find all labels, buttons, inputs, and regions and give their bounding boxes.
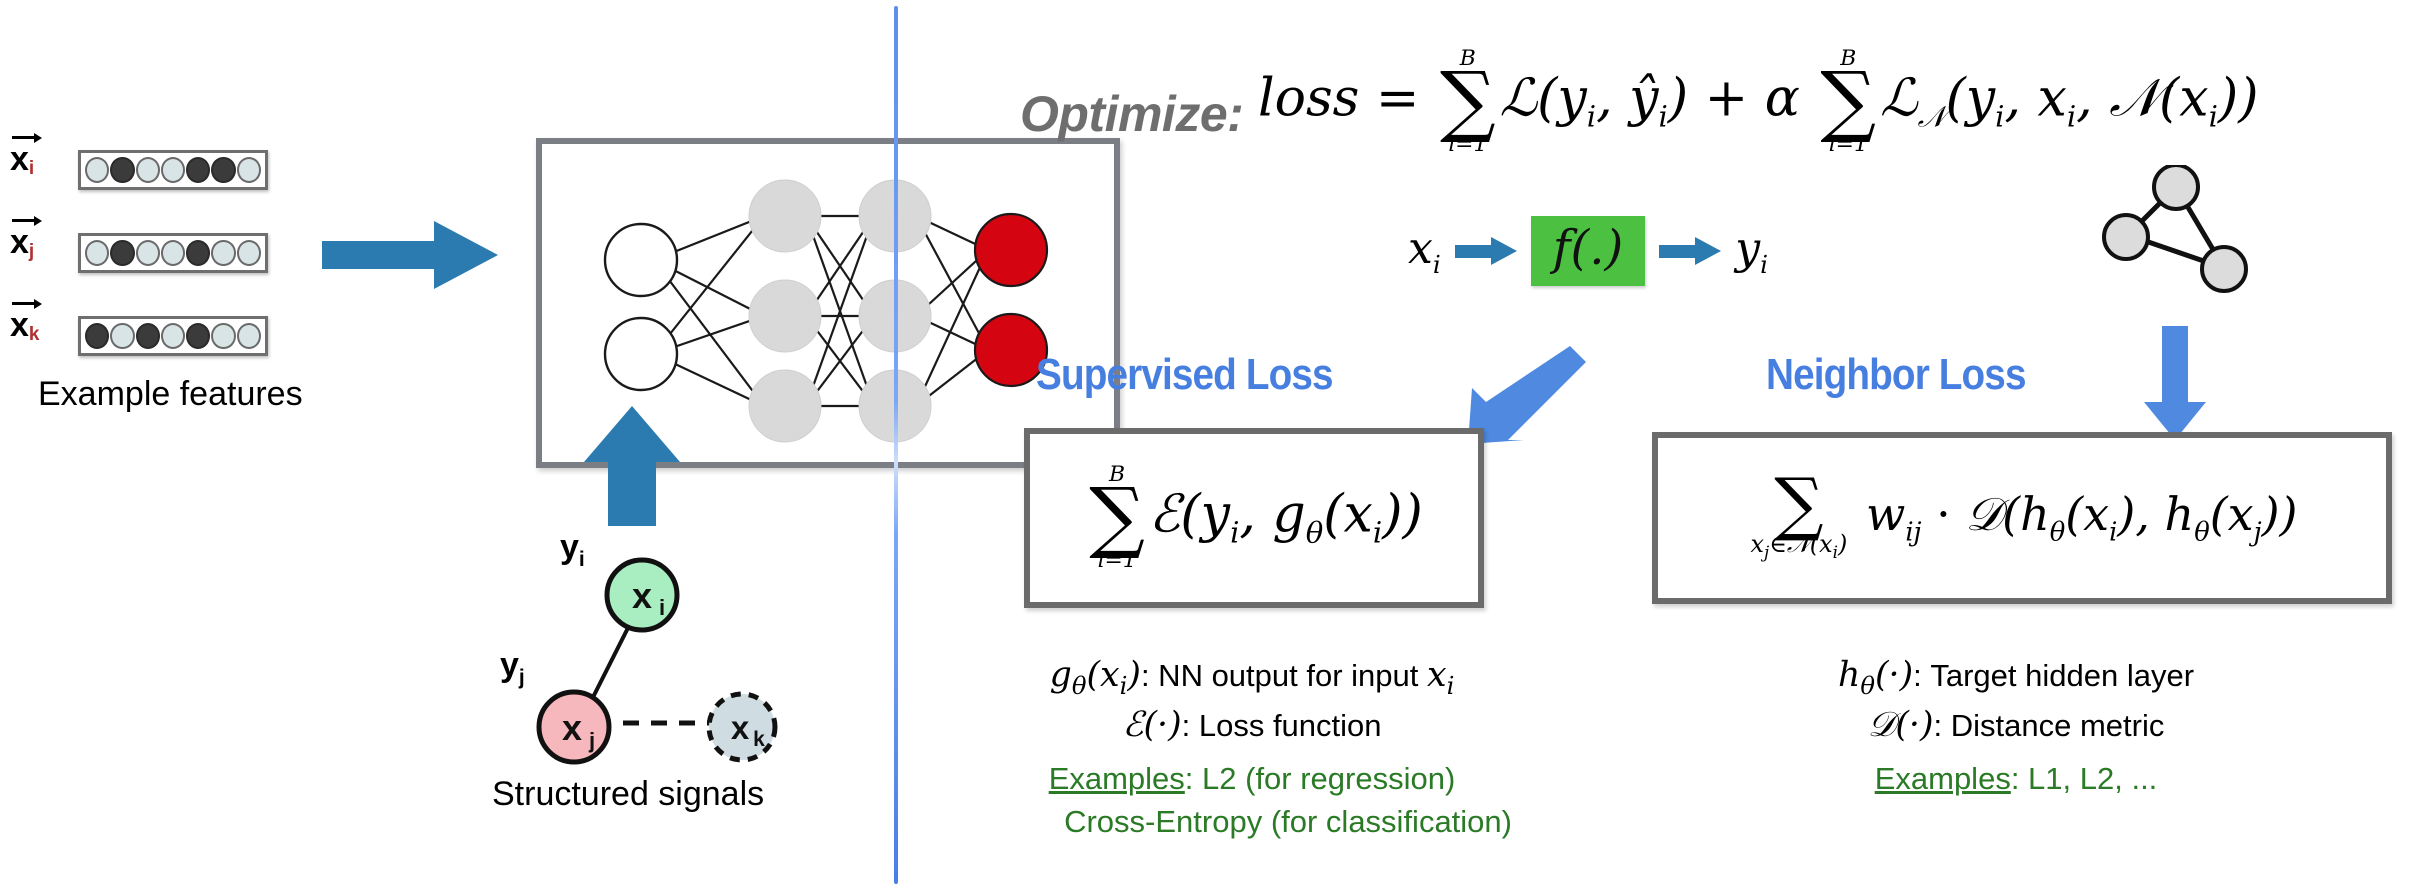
vector-symbol: x <box>10 306 29 344</box>
svg-text:i: i <box>659 595 665 620</box>
supervised-legend-line-1: gθ(xi): NN output for input xi <box>992 652 1512 702</box>
pipeline-arrow-out-icon <box>1659 240 1721 262</box>
feature-cell <box>136 240 160 266</box>
term2-sub2: i <box>2067 100 2076 134</box>
neighbor-loss-header: Neighbor Loss <box>1766 350 2026 400</box>
neighbor-loss-box: ∑ xj∈𝒩(xi) wij · 𝒟(hθ(xi), hθ(xj)) <box>1652 432 2392 604</box>
structured-signals-label: Structured signals <box>492 775 764 814</box>
feature-cell <box>211 323 235 349</box>
sup-body-sub1: i <box>1230 516 1239 550</box>
sum1-sigma-icon: ∑ <box>1440 70 1496 134</box>
nbr-sub2: j <box>2254 517 2262 547</box>
summation-2: B ∑ i=1 <box>1820 48 1876 156</box>
neighbor-examples-value: : L1, L2, ... <box>2011 761 2157 796</box>
neighbor-legend-line-1-text: : Target hidden layer <box>1913 658 2194 693</box>
vector-subscript: k <box>29 324 40 345</box>
feature-cell <box>237 157 261 183</box>
supervised-examples-label: Examples <box>1049 761 1185 796</box>
svg-text:j: j <box>588 728 595 753</box>
sup-body-end: )) <box>1382 484 1423 544</box>
supervised-sum: B ∑ i=1 <box>1089 464 1145 572</box>
neighbor-term-head-sub: 𝒩 <box>1918 100 1946 134</box>
sup-sum-sigma-icon: ∑ <box>1089 486 1145 550</box>
sup-body-mid: , g <box>1239 484 1305 544</box>
graph-label-yj: yj <box>500 646 525 690</box>
feature-vector-row-i <box>78 150 268 190</box>
feature-cell <box>186 157 210 183</box>
supervised-legend-line-1-text: : NN output for input <box>1141 658 1427 693</box>
example-features-label: Example features <box>38 375 303 414</box>
vector-label-k: xk <box>10 298 40 342</box>
h-theta-symbol: hθ(·) <box>1838 655 1913 695</box>
g-theta-symbol: gθ(xi) <box>1050 655 1141 695</box>
term2-end: )) <box>2218 68 2259 128</box>
feature-cell <box>161 157 185 183</box>
term1-sub2: i <box>1659 100 1668 134</box>
sup-body-tail: (x <box>1323 484 1373 544</box>
svg-text:x: x <box>562 707 582 748</box>
supervised-legend: gθ(xi): NN output for input xi ℰ(·): Los… <box>992 652 1512 844</box>
neighbor-legend-line-2-text: : Distance metric <box>1934 708 2165 743</box>
feature-cell <box>186 323 210 349</box>
svg-text:x: x <box>632 575 652 616</box>
feature-cell <box>211 157 235 183</box>
equals-sign: = <box>1376 68 1420 128</box>
loss-function-symbol: ℰ(·) <box>1122 705 1181 745</box>
loss-lhs: loss <box>1258 68 1359 128</box>
feature-cell <box>161 323 185 349</box>
vector-arrow-icon <box>10 298 40 308</box>
term2-body: (y <box>1945 68 1995 128</box>
main-loss-formula: loss = B ∑ i=1 ℒ(yi, ŷi) + α B ∑ i=1 ℒ𝒩(… <box>1258 48 2259 156</box>
pipeline-arrow-in-icon <box>1455 240 1517 262</box>
supervised-examples-line-1: Examples: L2 (for regression) <box>992 758 1512 801</box>
neighbor-legend: hθ(·): Target hidden layer 𝒟(·): Distanc… <box>1716 652 2316 801</box>
nbr-end: )) <box>2262 487 2298 541</box>
nbr-theta1: θ <box>2050 517 2066 547</box>
supervised-term: ℒ(y <box>1500 68 1587 128</box>
sum2-sigma-icon: ∑ <box>1820 70 1876 134</box>
feature-cell <box>237 323 261 349</box>
graph-label-yi: yi <box>560 528 585 572</box>
neighbor-examples-label: Examples <box>1875 761 2011 796</box>
feature-cell <box>211 240 235 266</box>
supervised-legend-line-2: ℰ(·): Loss function <box>992 702 1512 750</box>
neighbor-loss-arrow-icon <box>2140 326 2210 444</box>
nbr-mid1: (x <box>2065 487 2109 541</box>
x-i-symbol: xi <box>1427 655 1454 695</box>
sup-sum-lower: i=1 <box>1097 550 1136 572</box>
supervised-loss-header: Supervised Loss <box>1036 350 1333 400</box>
neighbor-sum: ∑ xj∈𝒩(xi) <box>1751 476 1848 560</box>
feature-cell <box>110 240 134 266</box>
pipeline-output-sub: i <box>1760 250 1768 279</box>
sup-body-theta: θ <box>1306 516 1324 550</box>
nbr-w: w <box>1866 487 1905 541</box>
vector-symbol: x <box>10 140 29 178</box>
feature-cell <box>136 157 160 183</box>
supervised-loss-box: B ∑ i=1 ℰ(yi, gθ(xi)) <box>1024 428 1484 608</box>
vector-arrow-icon <box>10 132 34 142</box>
nbr-d: 𝒟(h <box>1965 487 2049 541</box>
neighbor-graph-icon <box>2098 165 2268 295</box>
vector-label-i: xi <box>10 132 34 176</box>
neighbor-legend-line-1: hθ(·): Target hidden layer <box>1716 652 2316 702</box>
neighbor-term-head: ℒ <box>1880 68 1917 128</box>
plus-sign: + <box>1705 68 1749 128</box>
nbr-sum-lower: xj∈𝒩(xi) <box>1751 533 1848 561</box>
feature-cell <box>110 323 134 349</box>
sum2-lower: i=1 <box>1829 134 1868 156</box>
vector-symbol: x <box>10 223 29 261</box>
svg-text:k: k <box>753 728 765 751</box>
vector-label-j: xj <box>10 215 34 259</box>
supervised-legend-line-2-text: : Loss function <box>1182 708 1382 743</box>
feature-cell <box>237 240 261 266</box>
feature-cell <box>161 240 185 266</box>
feature-cell <box>110 157 134 183</box>
neighbor-examples-line: Examples: L1, L2, ... <box>1716 758 2316 801</box>
sup-body-head: ℰ(y <box>1149 484 1230 544</box>
panel-divider <box>894 6 898 884</box>
vector-subscript: j <box>29 241 34 262</box>
sup-body-sub2: i <box>1373 516 1382 550</box>
nbr-sum-sigma-icon: ∑ <box>1774 476 1823 533</box>
term1-mid: , ŷ <box>1596 68 1658 128</box>
distance-metric-symbol: 𝒟(·) <box>1868 705 1934 745</box>
feature-vector-row-j <box>78 233 268 273</box>
term2-sub3: i <box>2209 100 2218 134</box>
vector-arrow-icon <box>10 215 34 225</box>
pipeline-input-symbol: xi <box>1408 223 1441 279</box>
feature-vector-row-k <box>78 316 268 356</box>
feature-cell <box>85 240 109 266</box>
function-box: f(.) <box>1531 216 1645 286</box>
svg-text:x: x <box>731 709 750 746</box>
supervised-examples-value: : L2 (for regression) <box>1185 761 1456 796</box>
term1-sub1: i <box>1587 100 1596 134</box>
sum1-lower: i=1 <box>1448 134 1487 156</box>
alpha-symbol: α <box>1765 68 1800 128</box>
term2-mid: , x <box>2004 68 2066 128</box>
supervised-examples-line-2: Cross-Entropy (for classification) <box>992 801 1512 844</box>
nbr-mid2: ), h <box>2117 487 2194 541</box>
nbr-theta2: θ <box>2194 517 2210 547</box>
model-pipeline: xi f(.) yi <box>1408 216 1768 286</box>
nbr-dot: · <box>1936 487 1951 541</box>
term1-end: ) <box>1668 68 1688 128</box>
nbr-mid3: (x <box>2210 487 2254 541</box>
summation-1: B ∑ i=1 <box>1440 48 1496 156</box>
features-to-network-arrow-icon <box>322 215 512 295</box>
term2-mid2: , 𝒩(x <box>2076 68 2209 128</box>
supervised-loss-formula: B ∑ i=1 ℰ(yi, gθ(xi)) <box>1085 464 1423 572</box>
feature-cell <box>186 240 210 266</box>
nbr-w-sub: ij <box>1905 517 1921 547</box>
optimize-label: Optimize: <box>1020 85 1243 143</box>
pipeline-output-symbol: yi <box>1735 223 1768 279</box>
structured-signals-graph: x i x j x k <box>490 505 830 765</box>
vector-subscript: i <box>29 158 34 179</box>
pipeline-input-sub: i <box>1433 250 1441 279</box>
neighbor-loss-formula: ∑ xj∈𝒩(xi) wij · 𝒟(hθ(xi), hθ(xj)) <box>1747 476 2298 560</box>
feature-cell <box>85 157 109 183</box>
neighbor-legend-line-2: 𝒟(·): Distance metric <box>1716 702 2316 750</box>
feature-cell <box>85 323 109 349</box>
feature-cell <box>136 323 160 349</box>
